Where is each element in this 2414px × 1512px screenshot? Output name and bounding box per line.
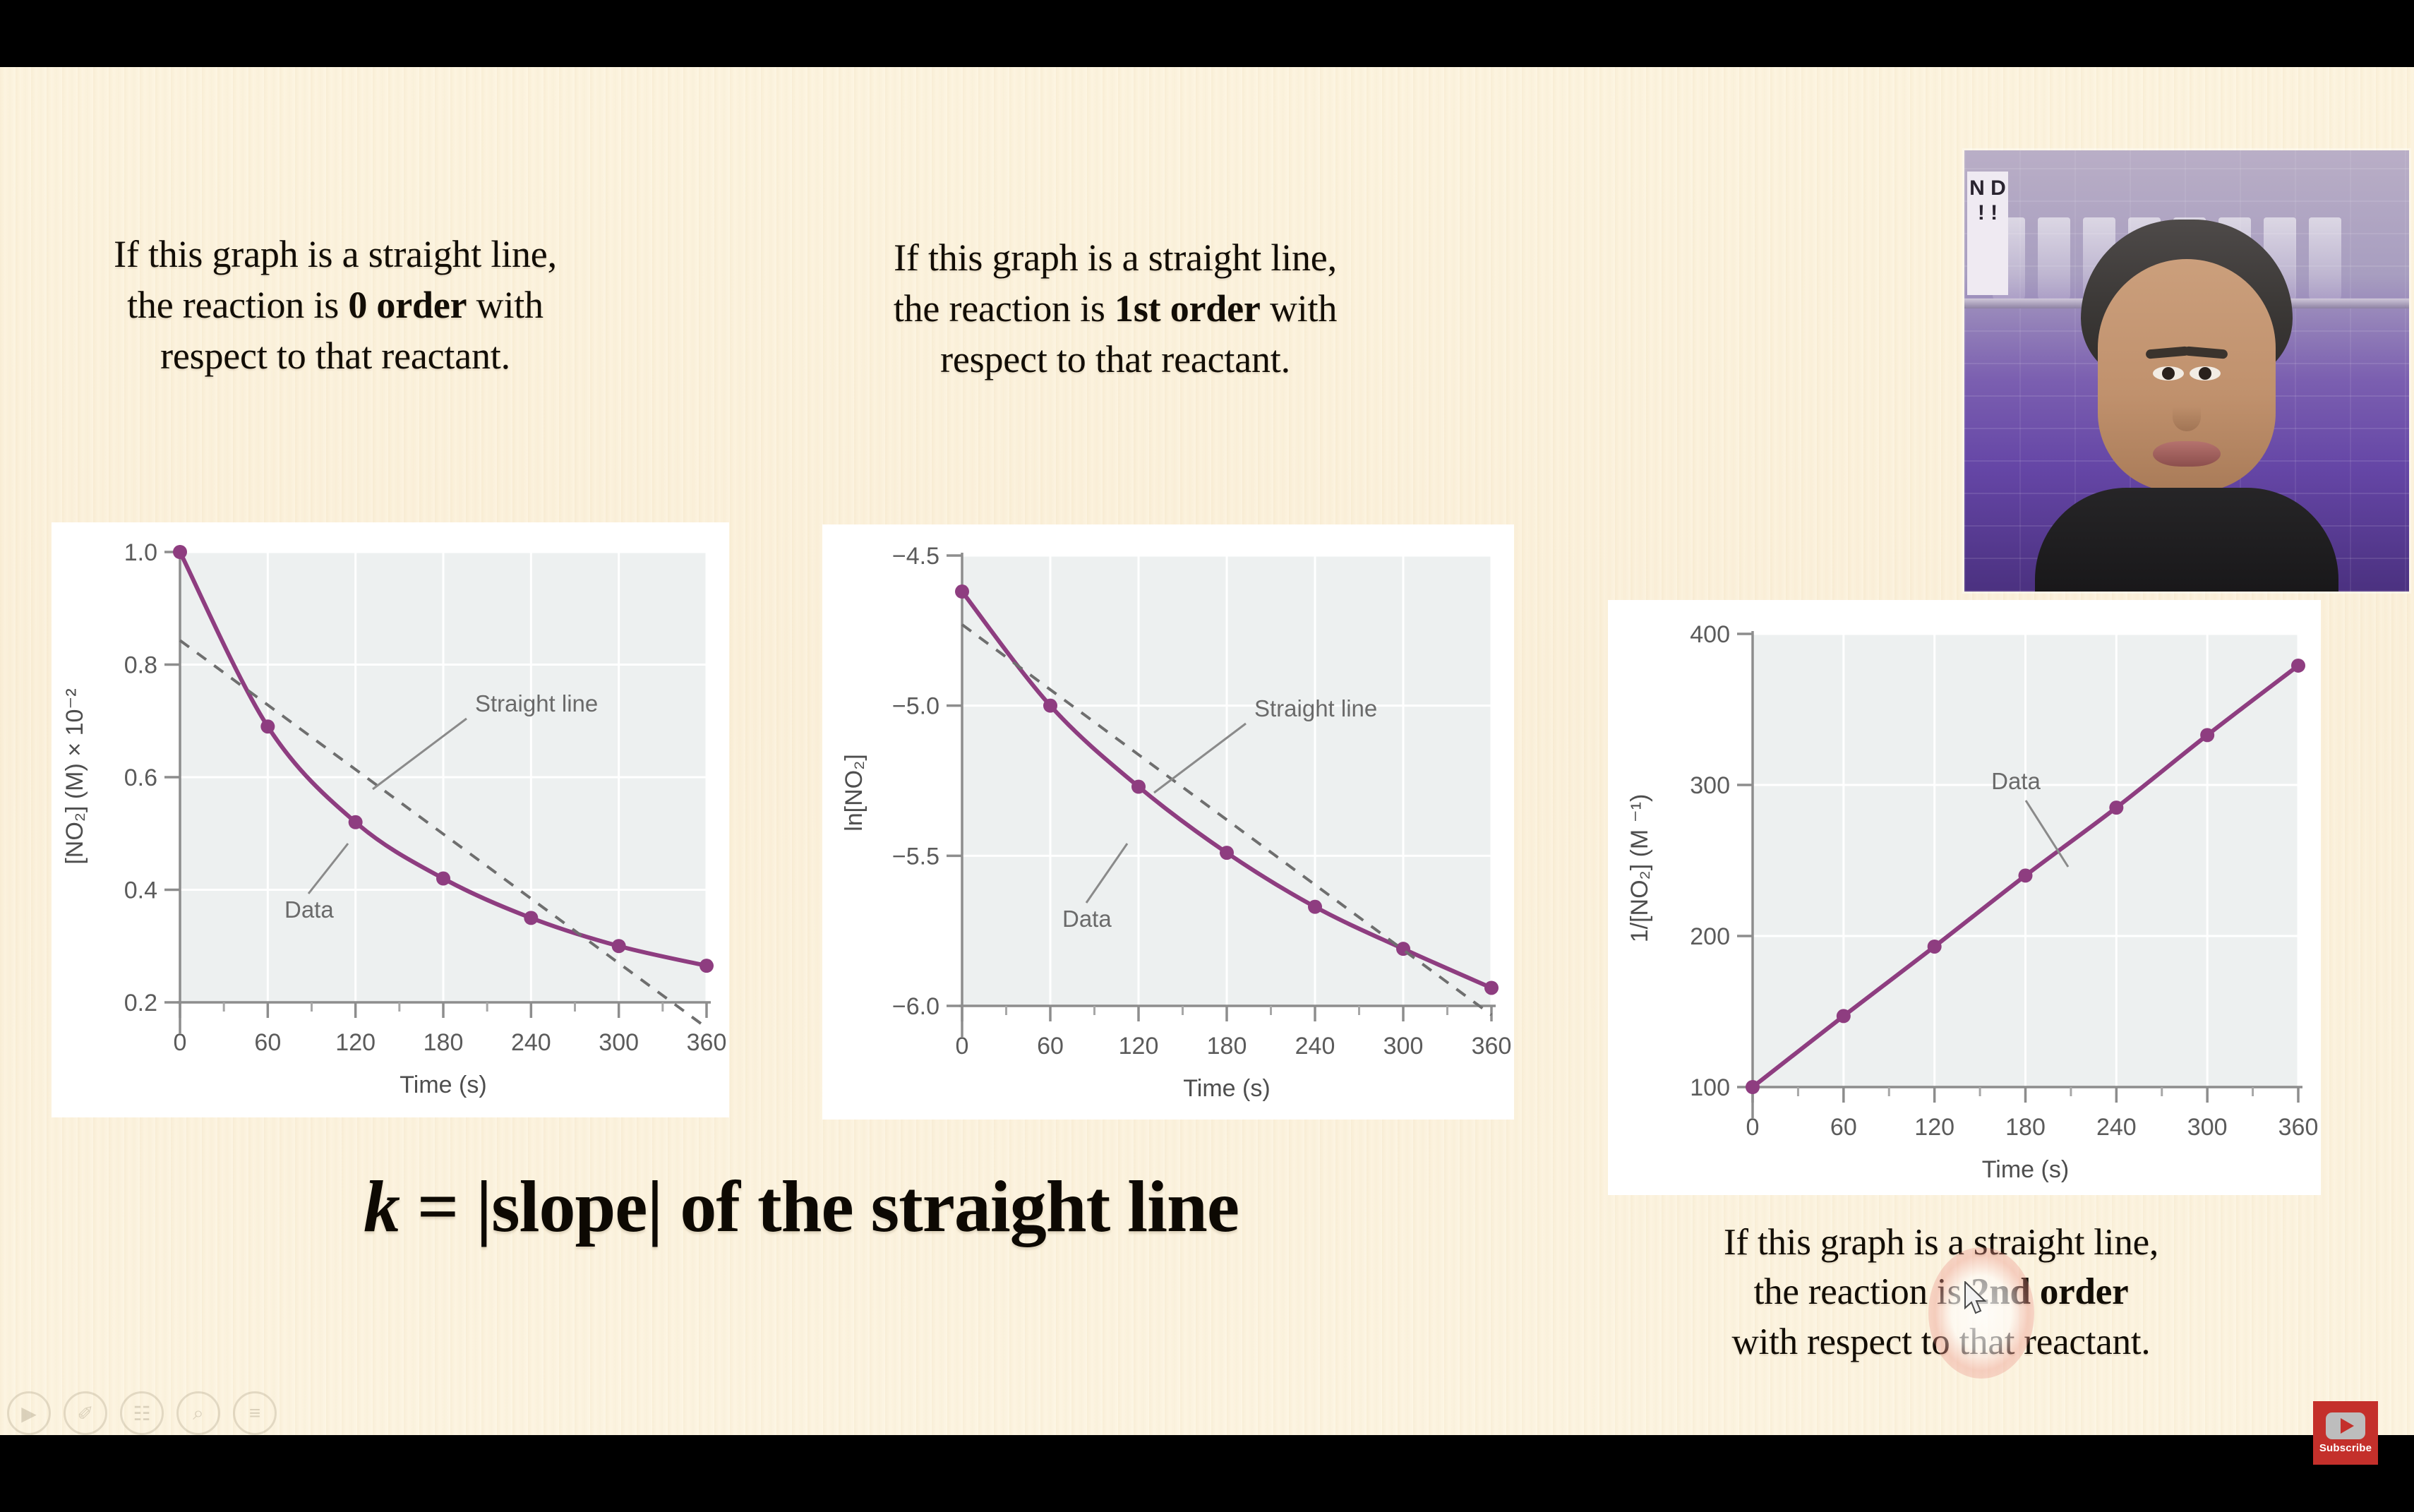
presenter-eyebrow-left [2146,346,2190,359]
svg-text:Time (s): Time (s) [1982,1156,2069,1183]
svg-text:200: 200 [1690,923,1730,950]
equation-body: = |slope| of the straight line [400,1166,1239,1247]
glass-icon [2309,217,2341,302]
caption-line-3: with respect to that reactant. [1623,1317,2259,1367]
svg-text:120: 120 [1914,1114,1954,1141]
presentation-slide: If this graph is a straight line, the re… [0,67,2414,1435]
pointer-tool-icon[interactable]: ▶ [7,1391,51,1435]
caption-order-emphasis: 0 order [348,284,467,326]
youtube-subscribe-button[interactable]: Subscribe [2313,1401,2378,1465]
svg-text:Straight line: Straight line [1254,695,1377,721]
svg-text:0: 0 [174,1029,187,1056]
rate-constant-equation: k = |slope| of the straight line [85,1165,1518,1249]
svg-text:Data: Data [1062,906,1112,932]
svg-text:120: 120 [335,1029,376,1056]
pen-tool-icon[interactable]: ✐ [64,1391,107,1435]
chart-first-order-svg: −6.0−5.5−5.0−4.5060120180240300360Time (… [822,524,1514,1120]
slides-tool-icon[interactable]: ☷ [120,1391,164,1435]
chart-zero-order: 0.20.40.60.81.0060120180240300360Time (s… [52,522,729,1117]
youtube-play-icon [2326,1412,2365,1439]
chart-second-order: 100200300400060120180240300360Time (s)1/… [1608,600,2321,1195]
presenter-face [2098,259,2276,492]
caption-line-2: the reaction is 2nd order [1623,1267,2259,1316]
caption-zero-order: If this graph is a straight line, the re… [28,229,642,381]
svg-text:300: 300 [1690,772,1730,799]
svg-text:Time (s): Time (s) [1183,1075,1270,1102]
presenter-torso [2035,488,2338,592]
svg-text:400: 400 [1690,621,1730,648]
svg-text:360: 360 [2278,1114,2319,1141]
svg-text:0.6: 0.6 [124,764,157,791]
presenter-mouth [2153,441,2221,467]
presenter-webcam-overlay: N D ! ! [1964,150,2409,592]
video-frame: If this graph is a straight line, the re… [0,0,2414,1512]
svg-text:360: 360 [687,1029,727,1056]
chart-zero-order-svg: 0.20.40.60.81.0060120180240300360Time (s… [52,522,729,1117]
svg-text:300: 300 [2187,1114,2228,1141]
svg-text:0.2: 0.2 [124,990,157,1016]
caption-order-emphasis: 2nd order [1971,1271,2128,1312]
svg-text:Data: Data [284,896,334,923]
caption-line-1: If this graph is a straight line, [805,233,1426,284]
presenter-eye-left [2153,366,2184,380]
svg-text:180: 180 [1207,1033,1247,1060]
svg-text:0: 0 [956,1033,969,1060]
svg-text:240: 240 [511,1029,551,1056]
svg-text:300: 300 [599,1029,639,1056]
chart-first-order: −6.0−5.5−5.0−4.5060120180240300360Time (… [822,524,1514,1120]
svg-text:60: 60 [254,1029,281,1056]
caption-line-2-pre: the reaction is [1754,1271,1971,1312]
svg-text:[NO₂] (M) × 10⁻²: [NO₂] (M) × 10⁻² [61,688,88,864]
caption-first-order: If this graph is a straight line, the re… [805,233,1426,385]
svg-text:ln[NO₂]: ln[NO₂] [841,754,867,832]
svg-text:300: 300 [1383,1033,1424,1060]
caption-line-2-pre: the reaction is [894,287,1115,330]
svg-text:Time (s): Time (s) [400,1072,486,1098]
caption-line-2: the reaction is 1st order with [805,284,1426,335]
svg-text:180: 180 [424,1029,464,1056]
annotation-toolbar[interactable]: ▶ ✐ ☷ ⌕ ≡ [7,1391,277,1435]
presenter-eye-right [2190,366,2221,380]
svg-text:−5.0: −5.0 [892,693,939,720]
svg-text:−6.0: −6.0 [892,993,939,1020]
caption-line-2-post: with [1261,287,1338,330]
caption-line-2: the reaction is 0 order with [28,280,642,331]
caption-line-3: respect to that reactant. [805,335,1426,385]
svg-text:180: 180 [2005,1114,2046,1141]
svg-text:0.4: 0.4 [124,877,157,904]
menu-tool-icon[interactable]: ≡ [233,1391,277,1435]
caption-line-3: respect to that reactant. [28,331,642,382]
svg-text:−5.5: −5.5 [892,843,939,870]
caption-order-emphasis: 1st order [1115,287,1261,330]
svg-text:100: 100 [1690,1074,1730,1101]
svg-text:120: 120 [1119,1033,1159,1060]
svg-text:60: 60 [1037,1033,1064,1060]
svg-text:1.0: 1.0 [124,539,157,566]
caption-line-1: If this graph is a straight line, [1623,1218,2259,1267]
presenter-nose [2173,390,2201,431]
svg-text:60: 60 [1830,1114,1857,1141]
presenter-eyebrow-right [2184,346,2228,359]
subscribe-label: Subscribe [2319,1442,2372,1454]
caption-line-2-pre: the reaction is [127,284,348,326]
caption-second-order: If this graph is a straight line, the re… [1623,1218,2259,1367]
svg-text:240: 240 [2096,1114,2137,1141]
svg-text:360: 360 [1472,1033,1512,1060]
svg-text:Data: Data [1991,768,2041,794]
svg-text:1/[NO₂] (M ⁻¹): 1/[NO₂] (M ⁻¹) [1626,794,1653,943]
svg-text:0: 0 [1746,1114,1760,1141]
caption-line-2-post: with [467,284,544,326]
caption-line-1: If this graph is a straight line, [28,229,642,280]
svg-text:240: 240 [1295,1033,1335,1060]
equation-variable-k: k [364,1166,400,1247]
zoom-tool-icon[interactable]: ⌕ [176,1391,220,1435]
chart-second-order-svg: 100200300400060120180240300360Time (s)1/… [1608,600,2321,1195]
webcam-wall-sign: N D ! ! [1967,172,2008,295]
presenter-figure [2070,220,2303,592]
svg-text:−4.5: −4.5 [892,543,939,570]
svg-text:Straight line: Straight line [475,690,598,716]
svg-text:0.8: 0.8 [124,652,157,679]
glass-icon [2038,217,2070,302]
